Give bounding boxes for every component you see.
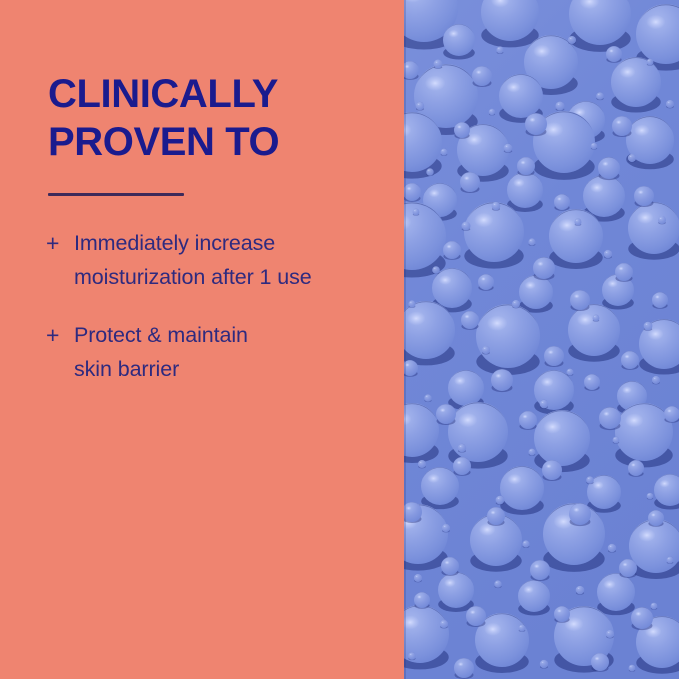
benefits-list: + Immediately increase moisturization af…: [46, 226, 396, 386]
page-title: CLINICALLY PROVEN TO: [48, 70, 378, 166]
list-item: + Immediately increase moisturization af…: [46, 226, 396, 294]
benefit-line-2: moisturization after 1 use: [74, 260, 396, 294]
benefit-line-1: Protect & maintain: [74, 318, 396, 352]
droplet-texture-panel: [404, 0, 679, 679]
product-claim-banner: CLINICALLY PROVEN TO + Immediately incre…: [0, 0, 679, 679]
benefit-text: Immediately increase moisturization afte…: [74, 226, 396, 294]
headline-line-1: CLINICALLY: [48, 70, 378, 118]
water-droplets-image: [404, 0, 679, 679]
plus-icon: +: [46, 226, 74, 260]
benefit-line-2: skin barrier: [74, 352, 396, 386]
plus-icon: +: [46, 318, 74, 352]
list-item: + Protect & maintain skin barrier: [46, 318, 396, 386]
benefit-text: Protect & maintain skin barrier: [74, 318, 396, 386]
headline-line-2: PROVEN TO: [48, 118, 378, 166]
benefit-line-1: Immediately increase: [74, 226, 396, 260]
headline-divider-rule: [48, 193, 184, 196]
copy-panel: CLINICALLY PROVEN TO + Immediately incre…: [0, 0, 404, 679]
panel-seam-divider: [404, 0, 406, 679]
